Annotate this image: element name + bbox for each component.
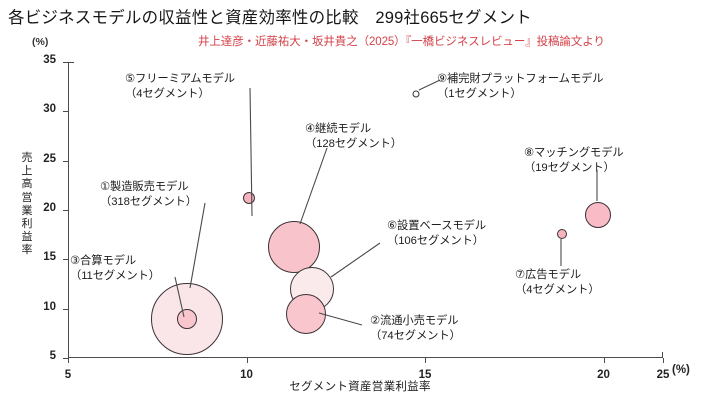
annotation-aggregate: ③合算モデル （11セグメント） bbox=[70, 254, 160, 283]
y-tick-10: 10 bbox=[63, 309, 69, 310]
annotation-aggregate-line2: （11セグメント） bbox=[70, 269, 160, 284]
annotation-continuity-line1: ④継続モデル bbox=[305, 123, 371, 135]
x-tick-5: 5 bbox=[68, 358, 69, 364]
x-axis-line bbox=[68, 357, 663, 358]
plot-area: 35 30 25 20 15 10 5 5 10 15 20 25 (%) bbox=[68, 62, 663, 358]
annotation-continuity: ④継続モデル （128セグメント） bbox=[305, 122, 402, 151]
annotation-continuity-line2: （128セグメント） bbox=[305, 137, 402, 152]
y-axis-unit: (%) bbox=[32, 36, 48, 48]
annotation-complementary-platform: ⑨補完財プラットフォームモデル （1セグメント） bbox=[437, 72, 603, 101]
bubble-freemium[interactable] bbox=[243, 192, 255, 204]
x-axis-unit: (%) bbox=[672, 364, 690, 376]
bubble-retail-distribution[interactable] bbox=[286, 294, 326, 334]
x-tick-15: 15 bbox=[425, 358, 426, 364]
y-tick-label-5: 5 bbox=[50, 350, 56, 362]
annotation-matching: ⑧マッチングモデル （19セグメント） bbox=[524, 146, 624, 175]
annotation-retail-distribution-line1: ②流通小売モデル bbox=[370, 315, 458, 327]
bubble-continuity[interactable] bbox=[268, 221, 320, 273]
y-tick-label-15: 15 bbox=[43, 251, 56, 263]
y-axis-title: 売上高営業利益率 bbox=[20, 152, 34, 258]
annotation-matching-line1: ⑧マッチングモデル bbox=[524, 147, 624, 159]
annotation-freemium: ⑤フリーミアムモデル （4セグメント） bbox=[125, 72, 235, 101]
x-axis-title: セグメント資産営業利益率 bbox=[0, 378, 720, 394]
annotation-matching-line2: （19セグメント） bbox=[524, 161, 624, 176]
bubble-aggregate[interactable] bbox=[177, 309, 197, 329]
bubble-complementary-platform[interactable] bbox=[413, 90, 420, 97]
bubble-advertising[interactable] bbox=[557, 229, 567, 239]
annotation-freemium-line2: （4セグメント） bbox=[125, 87, 235, 102]
annotation-retail-distribution-line2: （74セグメント） bbox=[370, 329, 461, 344]
annotation-advertising-line2: （4セグメント） bbox=[515, 283, 600, 298]
annotation-complementary-platform-line1: ⑨補完財プラットフォームモデル bbox=[437, 73, 603, 85]
annotation-complementary-platform-line2: （1セグメント） bbox=[437, 87, 603, 102]
y-tick-30: 30 bbox=[63, 111, 69, 112]
annotation-advertising: ⑦広告モデル （4セグメント） bbox=[515, 268, 600, 297]
x-tick-10: 10 bbox=[247, 358, 248, 364]
page-title: 各ビジネスモデルの収益性と資産効率性の比較 299社665セグメント bbox=[8, 4, 532, 28]
annotation-manufacturing-sales-line2: （318セグメント） bbox=[100, 195, 197, 210]
y-axis-top-cap bbox=[68, 62, 74, 63]
y-tick-label-30: 30 bbox=[43, 103, 56, 115]
annotation-install-base-line1: ⑥設置ベースモデル bbox=[387, 220, 486, 232]
y-tick-15: 15 bbox=[63, 259, 69, 260]
annotation-manufacturing-sales-line1: ①製造販売モデル bbox=[100, 181, 188, 193]
annotation-manufacturing-sales: ①製造販売モデル （318セグメント） bbox=[100, 180, 197, 209]
source-credit: 井上達彦・近藤祐大・坂井貴之（2025）『一橋ビジネスレビュー』投稿論文より bbox=[198, 33, 605, 49]
annotation-retail-distribution: ②流通小売モデル （74セグメント） bbox=[370, 314, 461, 343]
annotation-aggregate-line1: ③合算モデル bbox=[70, 255, 136, 267]
y-tick-label-35: 35 bbox=[43, 54, 56, 66]
annotation-freemium-line1: ⑤フリーミアムモデル bbox=[125, 73, 235, 85]
annotation-install-base: ⑥設置ベースモデル （106セグメント） bbox=[387, 219, 486, 248]
x-tick-20: 20 bbox=[604, 358, 605, 364]
x-tick-25: 25 bbox=[663, 358, 664, 364]
y-tick-label-10: 10 bbox=[43, 301, 56, 313]
bubble-matching[interactable] bbox=[585, 202, 611, 228]
y-tick-label-25: 25 bbox=[43, 153, 56, 165]
y-tick-label-20: 20 bbox=[43, 202, 56, 214]
y-tick-35: 35 bbox=[63, 62, 69, 63]
y-tick-20: 20 bbox=[63, 210, 69, 211]
y-tick-25: 25 bbox=[63, 161, 69, 162]
annotation-install-base-line2: （106セグメント） bbox=[387, 234, 486, 249]
annotation-advertising-line1: ⑦広告モデル bbox=[515, 269, 581, 281]
